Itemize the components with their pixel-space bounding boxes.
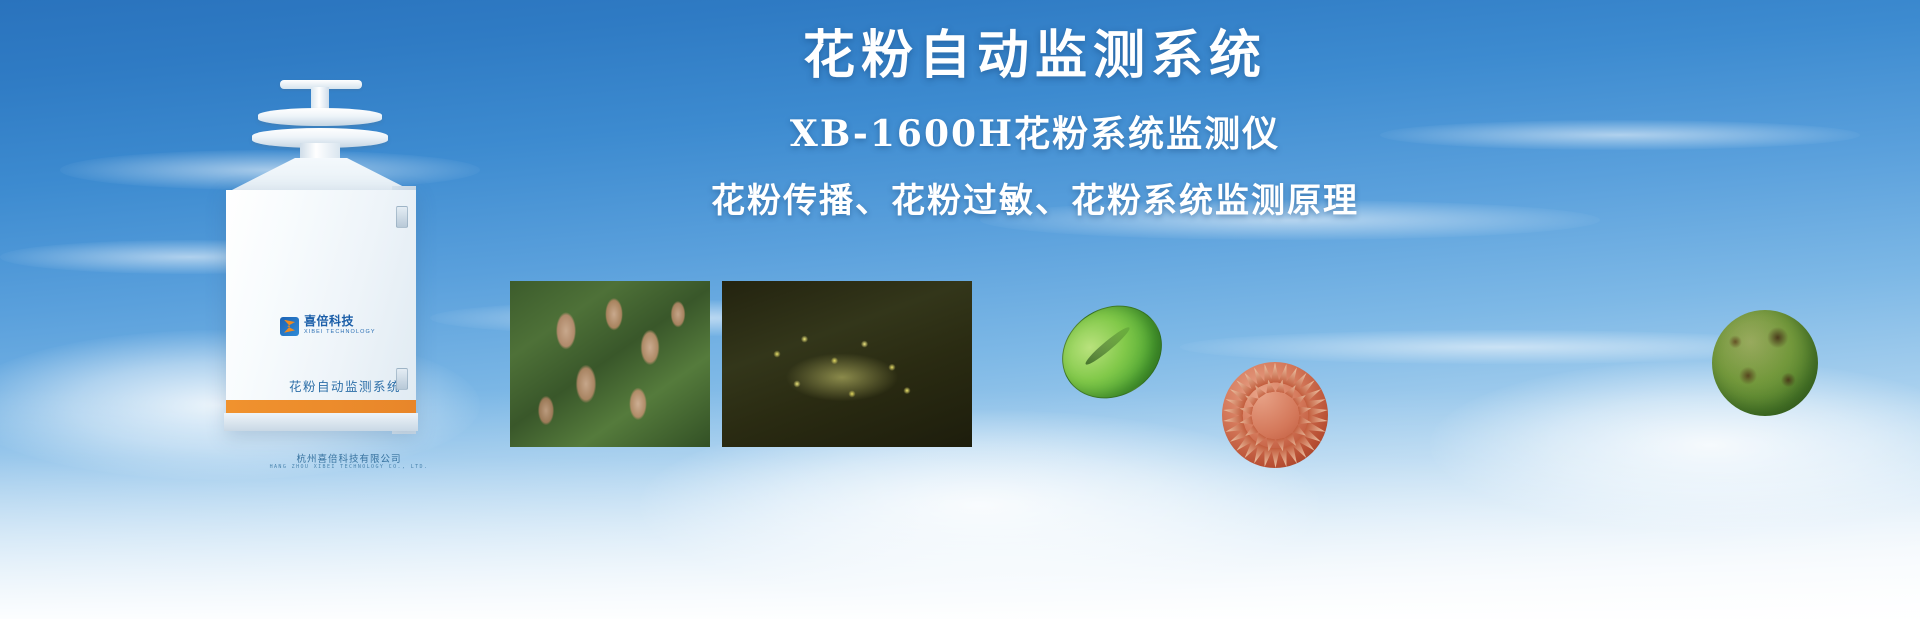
spiky-red-pollen-grain [1222, 362, 1328, 468]
subtitle-model: XB-1600H花粉系统监测仪 [530, 113, 1540, 156]
cloud-puff [1430, 360, 1920, 530]
device-inlet-disc-upper [258, 108, 382, 126]
pollen-monitor-device: 喜倍科技 XIBEI TECHNOLOGY 花粉自动监测系统 XB-1600H … [196, 80, 456, 440]
brand-name-en: XIBEI TECHNOLOGY [304, 327, 376, 337]
headline-group: 花粉自动监测系统 XB-1600H花粉系统监测仪 花粉传播、花粉过敏、花粉系统监… [530, 26, 1540, 221]
subtitle-topics: 花粉传播、花粉过敏、花粉系统监测原理 [530, 181, 1540, 222]
device-latch-upper [396, 206, 408, 228]
catkin-pollen-photo [722, 281, 972, 447]
device-company-en: HANG ZHOU XIBEI TECHNOLOGY CO., LTD. [256, 464, 442, 470]
device-body-panel: 喜倍科技 XIBEI TECHNOLOGY 花粉自动监测系统 XB-1600H … [226, 190, 416, 430]
cypress-pollen-cones-photo [510, 281, 710, 447]
pollen-monitoring-banner: 花粉自动监测系统 XB-1600H花粉系统监测仪 花粉传播、花粉过敏、花粉系统监… [0, 0, 1920, 619]
device-company-cn: 杭州喜倍科技有限公司 [256, 451, 442, 465]
page-title: 花粉自动监测系统 [530, 26, 1540, 87]
device-shoulder [228, 158, 414, 192]
device-base [224, 413, 418, 431]
device-brand-logo: 喜倍科技 XIBEI TECHNOLOGY [280, 315, 376, 337]
xibei-logo-icon [280, 317, 299, 336]
pollen-spike [1271, 363, 1280, 383]
mottled-green-pollen-grain [1712, 310, 1818, 416]
brand-name-cn: 喜倍科技 [304, 315, 376, 327]
green-oval-pollen-grain [1045, 287, 1180, 417]
device-accent-stripe [226, 400, 416, 413]
device-latch-lower [396, 368, 408, 390]
